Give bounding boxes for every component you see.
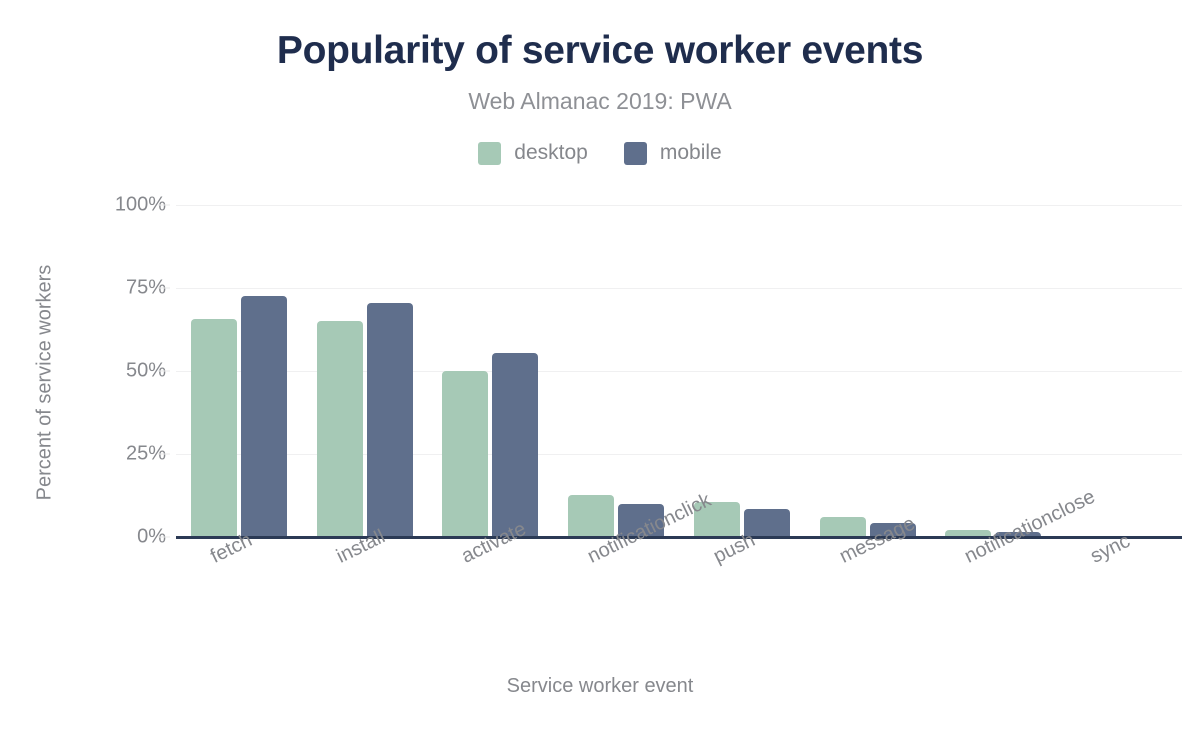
legend-item-mobile[interactable]: mobile bbox=[624, 141, 722, 165]
legend-swatch-icon bbox=[624, 142, 647, 165]
y-tick-mark bbox=[158, 371, 170, 372]
y-tick-mark bbox=[158, 288, 170, 289]
bar-install-desktop[interactable] bbox=[317, 321, 363, 537]
bar-fetch-desktop[interactable] bbox=[191, 319, 237, 537]
legend-label: mobile bbox=[660, 141, 722, 165]
bar-fetch-mobile[interactable] bbox=[241, 296, 287, 537]
y-tick-label: 100% bbox=[46, 194, 166, 217]
bar-group-push bbox=[679, 205, 805, 537]
legend-item-desktop[interactable]: desktop bbox=[478, 141, 588, 165]
bar-notificationclick-desktop[interactable] bbox=[568, 495, 614, 537]
bar-activate-desktop[interactable] bbox=[442, 371, 488, 537]
chart-title: Popularity of service worker events bbox=[0, 30, 1200, 73]
bar-activate-mobile[interactable] bbox=[492, 353, 538, 537]
bar-message-desktop[interactable] bbox=[820, 517, 866, 537]
legend-label: desktop bbox=[514, 141, 588, 165]
legend-swatch-icon bbox=[478, 142, 501, 165]
bar-install-mobile[interactable] bbox=[367, 303, 413, 537]
y-tick-mark bbox=[158, 205, 170, 206]
bar-chart: Popularity of service worker events Web … bbox=[0, 0, 1200, 742]
bar-group-message bbox=[805, 205, 931, 537]
bar-group-fetch bbox=[176, 205, 302, 537]
y-tick-label: 0% bbox=[46, 526, 166, 549]
plot-area bbox=[176, 205, 1182, 537]
chart-legend: desktopmobile bbox=[0, 141, 1200, 165]
bar-group-sync bbox=[1056, 205, 1182, 537]
y-tick-label: 75% bbox=[46, 277, 166, 300]
bar-group-activate bbox=[428, 205, 554, 537]
bar-group-notificationclose bbox=[931, 205, 1057, 537]
y-tick-label: 50% bbox=[46, 360, 166, 383]
chart-subtitle: Web Almanac 2019: PWA bbox=[0, 88, 1200, 115]
bar-group-install bbox=[302, 205, 428, 537]
y-axis-title: Percent of service workers bbox=[34, 223, 57, 543]
bar-group-notificationclick bbox=[553, 205, 679, 537]
y-tick-label: 25% bbox=[46, 443, 166, 466]
y-tick-mark bbox=[158, 537, 170, 538]
x-axis-title: Service worker event bbox=[0, 675, 1200, 698]
y-tick-mark bbox=[158, 454, 170, 455]
